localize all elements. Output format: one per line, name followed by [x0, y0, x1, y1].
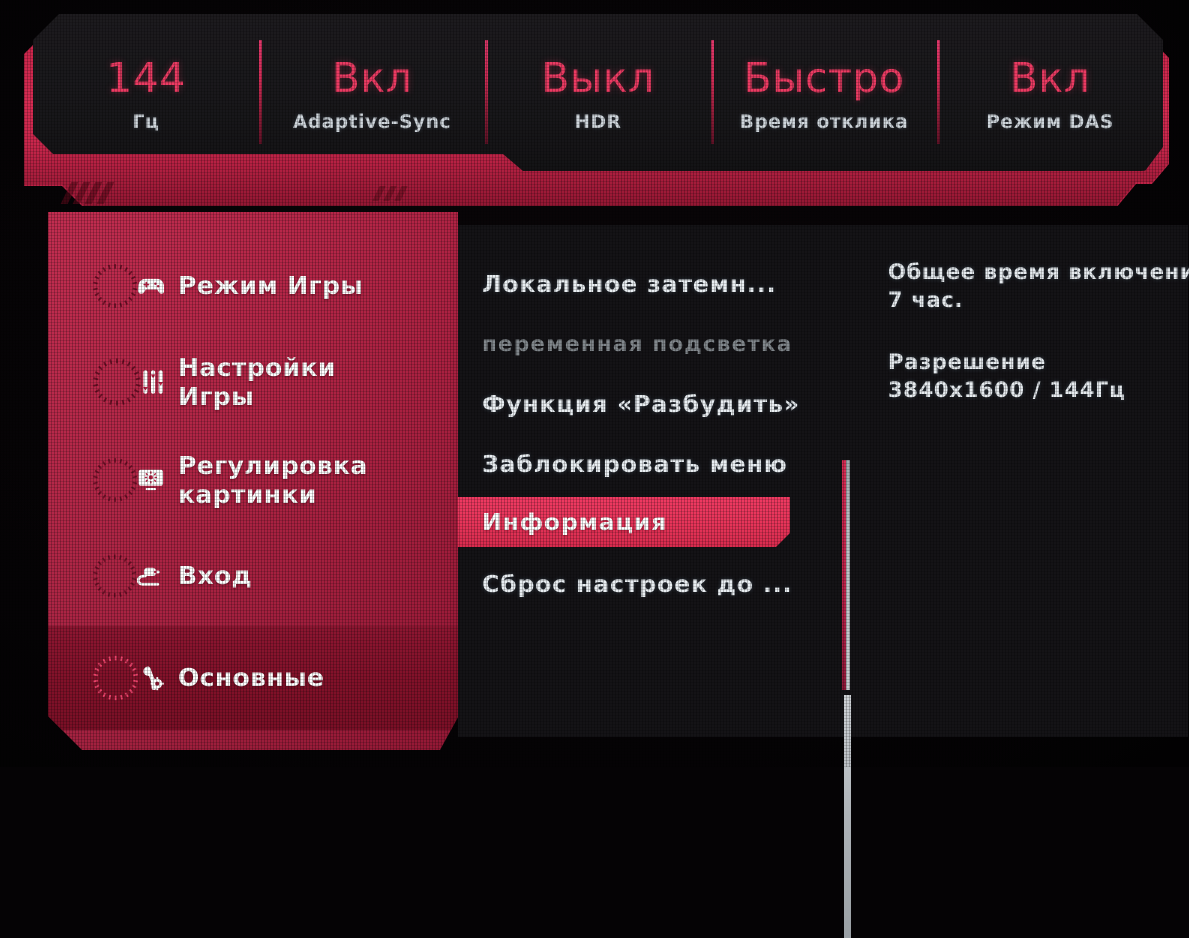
sidebar-item-input[interactable]: Вход — [48, 530, 458, 622]
sidebar-item-game-settings[interactable]: Настройки Игры — [48, 334, 458, 430]
status-bar-region: 144 Гц Вкл Adaptive-Sync Выкл HDR Быстро… — [24, 14, 1169, 214]
status-item-das-mode: Вкл Режим DAS — [937, 14, 1163, 171]
wrench-gear-icon — [92, 642, 164, 714]
status-item-hdr: Выкл HDR — [485, 14, 711, 171]
status-value: Вкл — [332, 58, 413, 99]
menu-item-information[interactable]: Информация — [458, 497, 790, 547]
sliders-icon — [92, 346, 164, 418]
status-label: Время отклика — [740, 112, 909, 133]
menu-item-label: Сброс настроек до ... — [482, 570, 792, 598]
menu-item-wake-function[interactable]: Функция «Разбудить» — [458, 379, 790, 429]
status-label: Гц — [133, 112, 160, 133]
osd-body: Режим Игры — [48, 212, 1138, 755]
menu-item-label: переменная подсветка — [482, 332, 793, 357]
sidebar-item-label: Регулировка картинки — [178, 451, 368, 510]
scrollbar-track[interactable] — [846, 460, 850, 690]
sidebar-item-label: Вход — [178, 561, 252, 590]
settings-menu-list: Локальное затемн... переменная подсветка… — [458, 225, 828, 737]
sidebar-item-label: Основные — [178, 663, 324, 692]
status-label: Режим DAS — [986, 112, 1113, 133]
tick-ring-decoration — [92, 444, 138, 516]
status-value: Быстро — [743, 58, 904, 99]
info-block-total-power-on-time: Общее время включения 7 час. — [888, 259, 1183, 315]
status-bar: 144 Гц Вкл Adaptive-Sync Выкл HDR Быстро… — [33, 14, 1163, 171]
status-item-adaptive-sync: Вкл Adaptive-Sync — [259, 14, 485, 171]
info-value: 3840x1600 / 144Гц — [888, 377, 1183, 405]
menu-item-label: Информация — [482, 508, 667, 536]
status-label: HDR — [575, 112, 622, 133]
status-value: 144 — [106, 58, 186, 99]
tick-ring-decoration — [92, 346, 142, 418]
sidebar-item-game-mode[interactable]: Режим Игры — [48, 240, 458, 332]
gamepad-icon — [92, 250, 164, 322]
status-item-response-time: Быстро Время отклика — [711, 14, 937, 171]
menu-item-variable-backlight[interactable]: переменная подсветка — [458, 319, 790, 369]
frame-slash-decoration-right — [376, 186, 404, 201]
info-title: Разрешение — [888, 349, 1183, 377]
sidebar-item-general[interactable]: Основные — [48, 626, 458, 730]
tick-ring-decoration — [92, 250, 138, 322]
osd-root: 144 Гц Вкл Adaptive-Sync Выкл HDR Быстро… — [0, 0, 1189, 767]
tick-ring-decoration — [92, 540, 137, 612]
menu-item-label: Заблокировать меню — [482, 450, 788, 478]
menu-item-reset-settings[interactable]: Сброс настроек до ... — [458, 559, 790, 609]
menu-item-label: Локальное затемн... — [482, 270, 776, 298]
status-value: Вкл — [1010, 58, 1091, 99]
monitor-brightness-icon — [92, 444, 164, 516]
status-item-refresh-rate: 144 Гц — [33, 14, 259, 171]
menu-item-local-dimming[interactable]: Локальное затемн... — [458, 259, 790, 309]
sidebar-item-label: Настройки Игры — [178, 353, 336, 412]
sidebar: Режим Игры — [48, 212, 458, 750]
info-value: 7 час. — [888, 287, 1183, 315]
menu-item-label: Функция «Разбудить» — [482, 390, 800, 418]
scrollbar-thumb[interactable] — [844, 695, 851, 938]
info-title: Общее время включения — [888, 259, 1183, 287]
sidebar-item-picture-adjustment[interactable]: Регулировка картинки — [48, 432, 458, 528]
information-panel: Общее время включения 7 час. Разрешение … — [843, 225, 1183, 737]
menu-item-lock-menu[interactable]: Заблокировать меню — [458, 439, 790, 489]
status-value: Выкл — [541, 58, 654, 99]
tick-ring-decoration — [92, 642, 139, 714]
info-block-resolution: Разрешение 3840x1600 / 144Гц — [888, 349, 1183, 405]
sidebar-item-label: Режим Игры — [178, 271, 363, 300]
plug-icon — [92, 540, 164, 612]
frame-slash-decoration-left — [66, 182, 109, 204]
status-label: Adaptive-Sync — [293, 112, 451, 133]
